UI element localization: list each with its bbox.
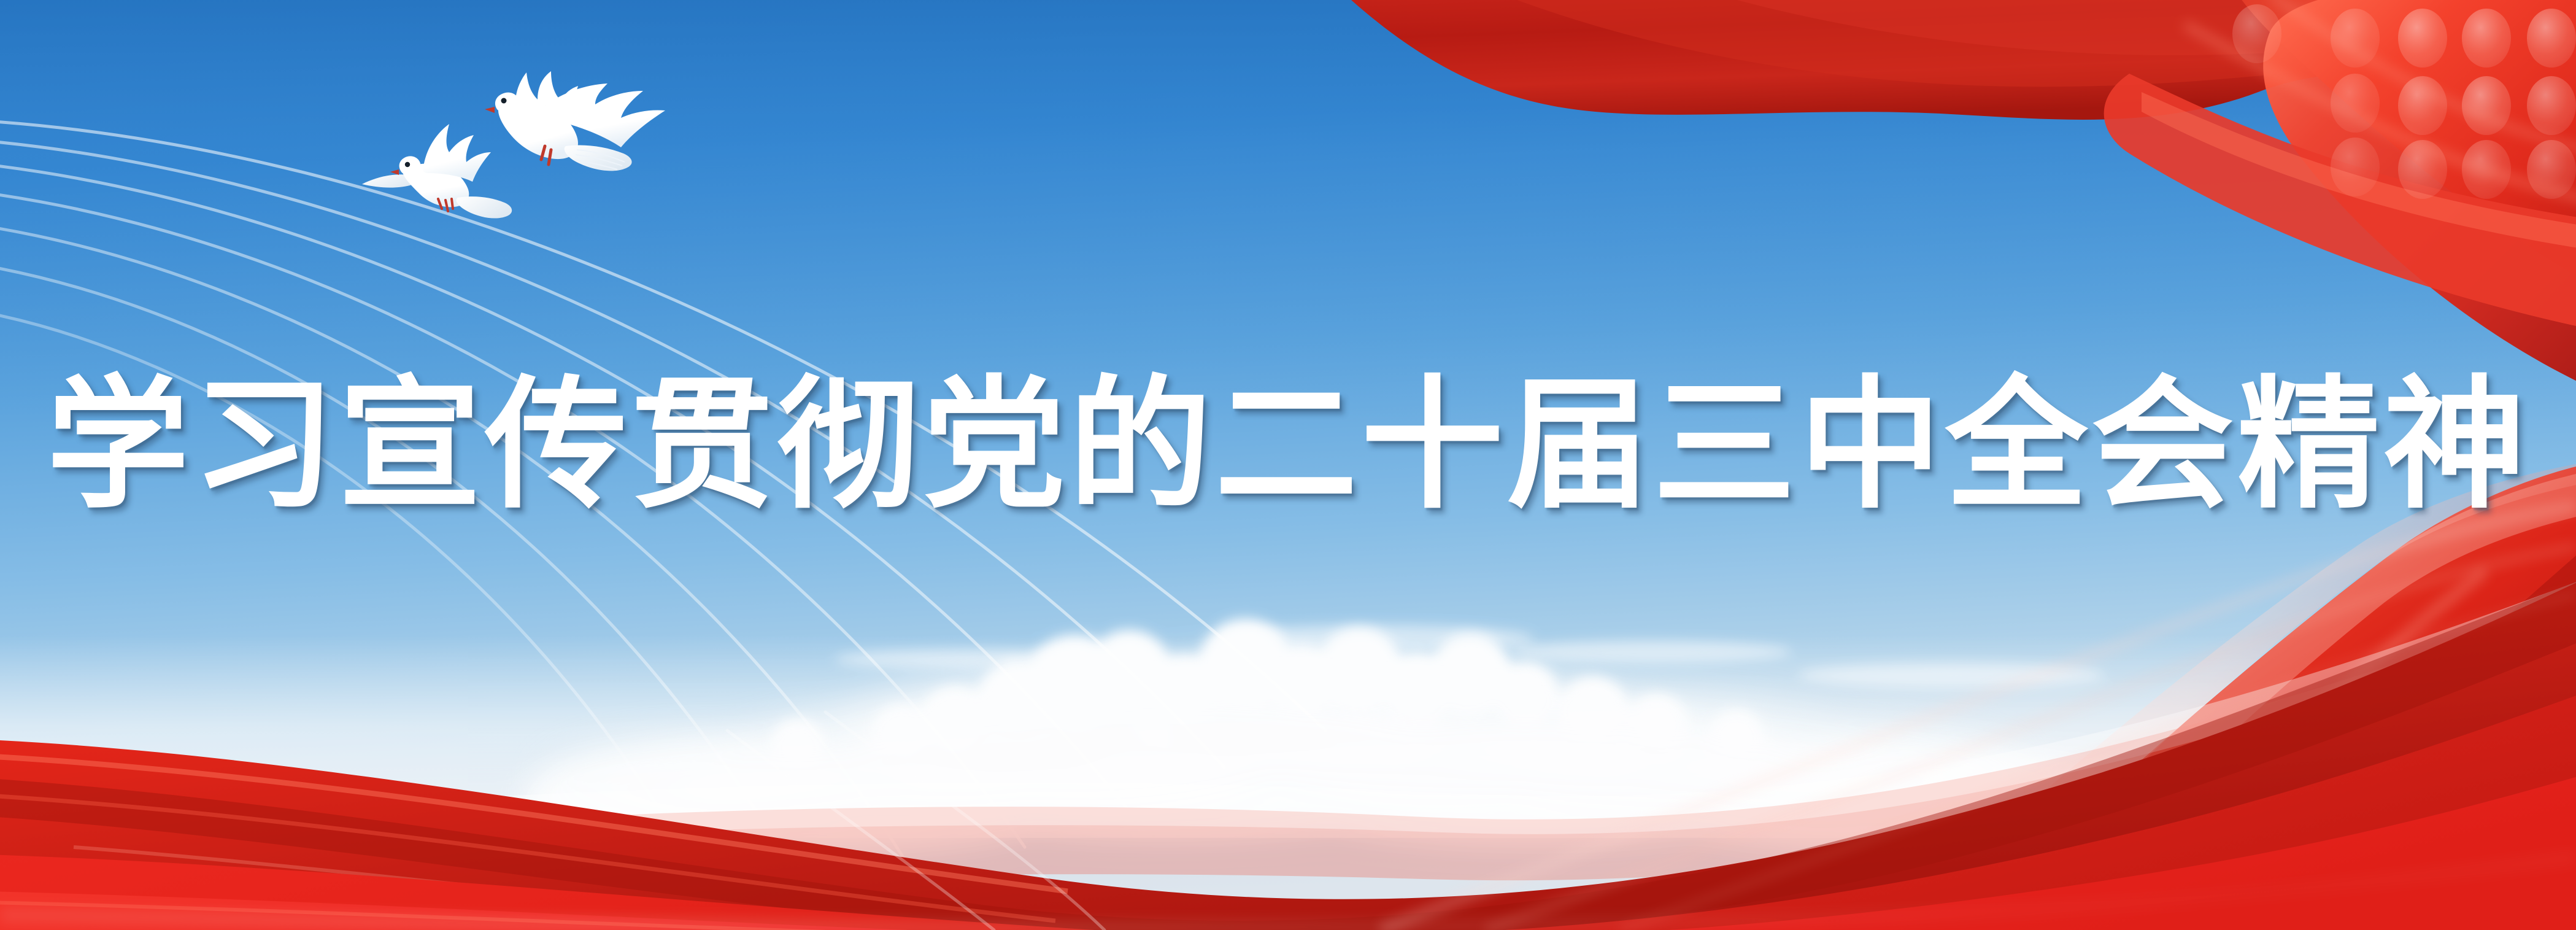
dove-right (479, 69, 681, 198)
banner-canvas: 学习宣传贯彻党的二十届三中全会精神 (0, 0, 2576, 930)
